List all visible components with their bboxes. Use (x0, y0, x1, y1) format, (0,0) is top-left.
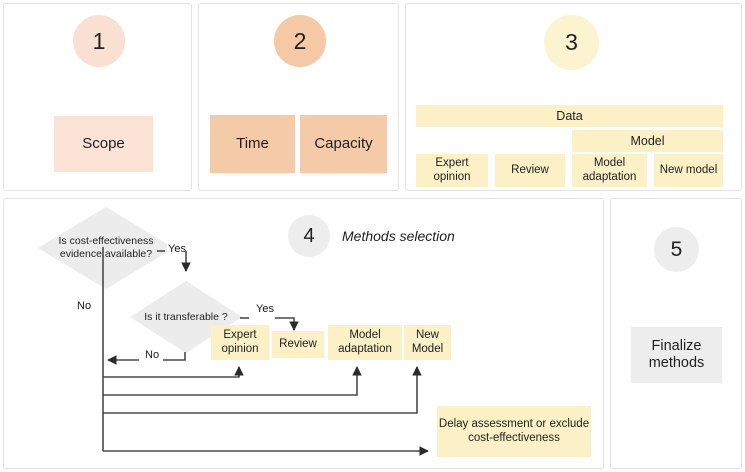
method-model-adaptation-box: Model adaptation (328, 325, 402, 360)
scope-box: Scope (54, 116, 153, 172)
step-number-badge-4: 4 (288, 215, 330, 257)
step-number-badge-5: 5 (654, 227, 699, 272)
data-bar: Data (416, 105, 723, 127)
methods-selection-title: Methods selection (342, 228, 455, 244)
step-number-badge-1: 1 (73, 15, 125, 67)
panel-step-5: 5 Finalize methods (610, 198, 742, 469)
model-adaptation-box: Model adaptation (572, 154, 647, 187)
step-number-badge-2: 2 (274, 15, 326, 67)
delay-assessment-box: Delay assessment or exclude cost-effecti… (437, 406, 591, 457)
time-box: Time (210, 115, 295, 173)
new-model-box: New model (654, 154, 723, 187)
panel-step-3: 3 Data Model Expert opinion Review Model… (405, 3, 742, 191)
edge-label-yes-2: Yes (255, 303, 275, 315)
review-box: Review (495, 154, 565, 187)
panel-step-1: 1 Scope (3, 3, 192, 191)
edge-label-no-1: No (76, 300, 92, 312)
step-number-badge-3: 3 (544, 15, 599, 70)
model-bar: Model (572, 130, 723, 152)
edge-label-yes-1: Yes (167, 243, 187, 255)
edge-label-no-2: No (144, 349, 160, 361)
method-review-box: Review (272, 331, 324, 358)
decision-evidence-available-label: Is cost-effectiveness evidence available… (46, 235, 166, 260)
decision-is-transferable-label: Is it transferable ? (137, 311, 236, 324)
figure-canvas: 1 Scope 2 Time Capacity 3 Data Model Exp… (0, 0, 745, 472)
panel-step-2: 2 Time Capacity (198, 3, 399, 191)
expert-opinion-box: Expert opinion (416, 154, 488, 187)
panel-step-4: 4 Methods selection Is cost-effectivenes… (3, 198, 604, 469)
method-expert-opinion-box: Expert opinion (211, 325, 269, 360)
capacity-box: Capacity (300, 115, 387, 173)
finalize-methods-box: Finalize methods (631, 327, 722, 383)
decision-evidence-available: Is cost-effectiveness evidence available… (38, 207, 174, 289)
method-new-model-box: New Model (404, 325, 451, 360)
